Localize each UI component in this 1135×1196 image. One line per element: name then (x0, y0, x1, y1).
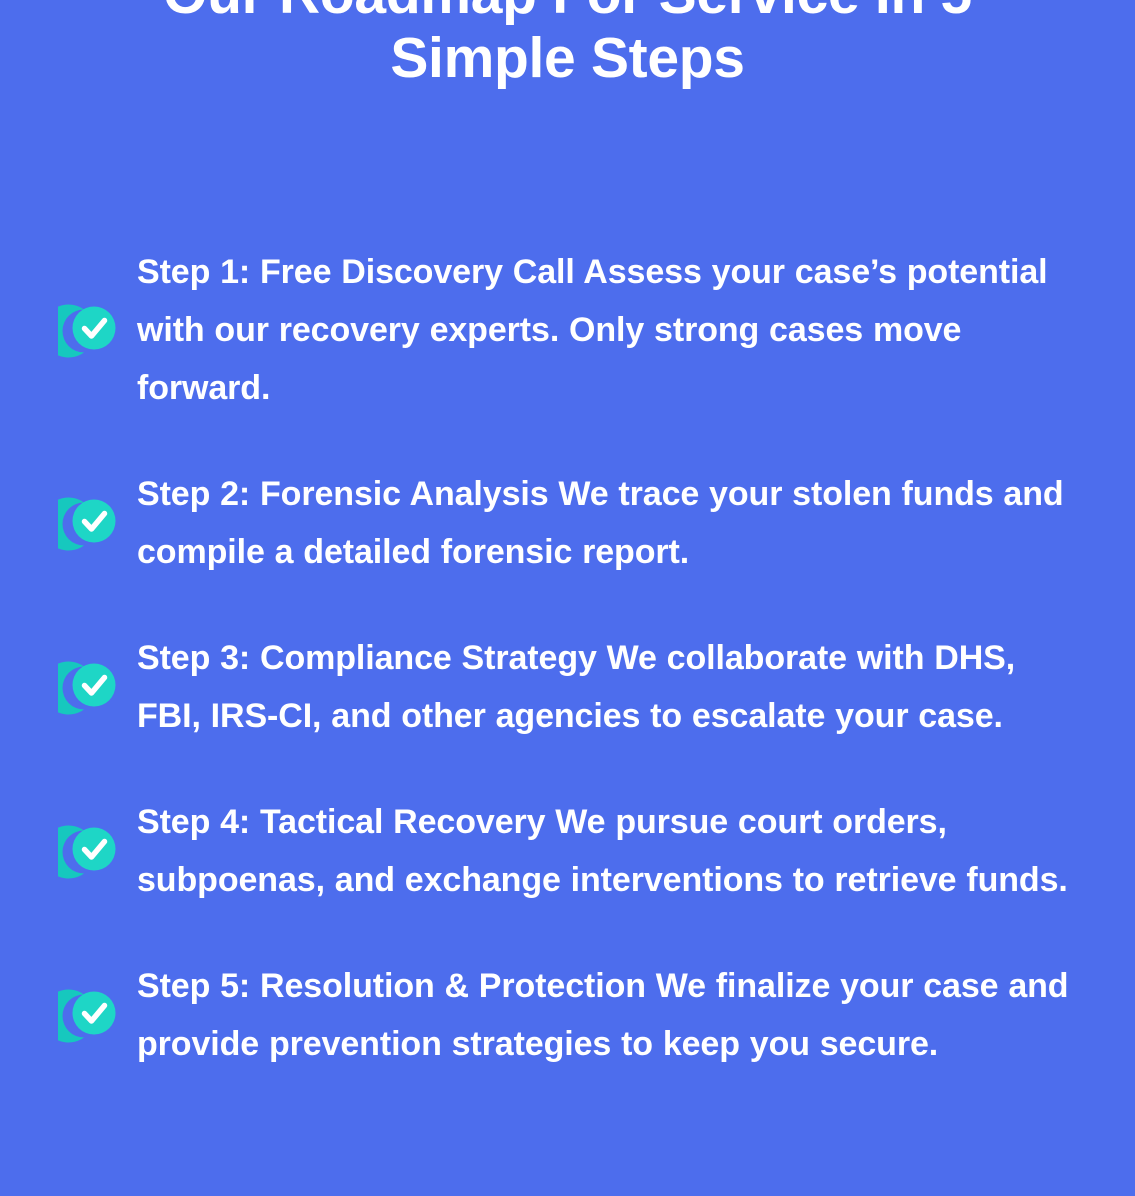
list-item: Step 1: Free Discovery Call Assess your … (55, 243, 1077, 417)
step-icon-cell (55, 985, 137, 1045)
check-circle-icon (58, 493, 118, 553)
steps-list: Step 1: Free Discovery Call Assess your … (0, 243, 1135, 1073)
roadmap-page: Our Roadmap For Service In 5 Simple Step… (0, 0, 1135, 1196)
page-header: Our Roadmap For Service In 5 Simple Step… (0, 0, 1135, 90)
step-icon-cell (55, 821, 137, 881)
step-description: Step 2: Forensic Analysis We trace your … (137, 465, 1077, 581)
check-circle-icon (58, 300, 118, 360)
list-item: Step 3: Compliance Strategy We collabora… (55, 629, 1077, 745)
step-description: Step 4: Tactical Recovery We pursue cour… (137, 793, 1077, 909)
check-circle-icon (58, 821, 118, 881)
list-item: Step 5: Resolution & Protection We final… (55, 957, 1077, 1073)
step-description: Step 3: Compliance Strategy We collabora… (137, 629, 1077, 745)
step-icon-cell (55, 657, 137, 717)
check-circle-icon (58, 657, 118, 717)
step-icon-cell (55, 493, 137, 553)
step-description: Step 1: Free Discovery Call Assess your … (137, 243, 1077, 417)
list-item: Step 2: Forensic Analysis We trace your … (55, 465, 1077, 581)
step-description: Step 5: Resolution & Protection We final… (137, 957, 1077, 1073)
step-icon-cell (55, 300, 137, 360)
page-title: Our Roadmap For Service In 5 Simple Step… (0, 0, 1135, 90)
list-item: Step 4: Tactical Recovery We pursue cour… (55, 793, 1077, 909)
check-circle-icon (58, 985, 118, 1045)
